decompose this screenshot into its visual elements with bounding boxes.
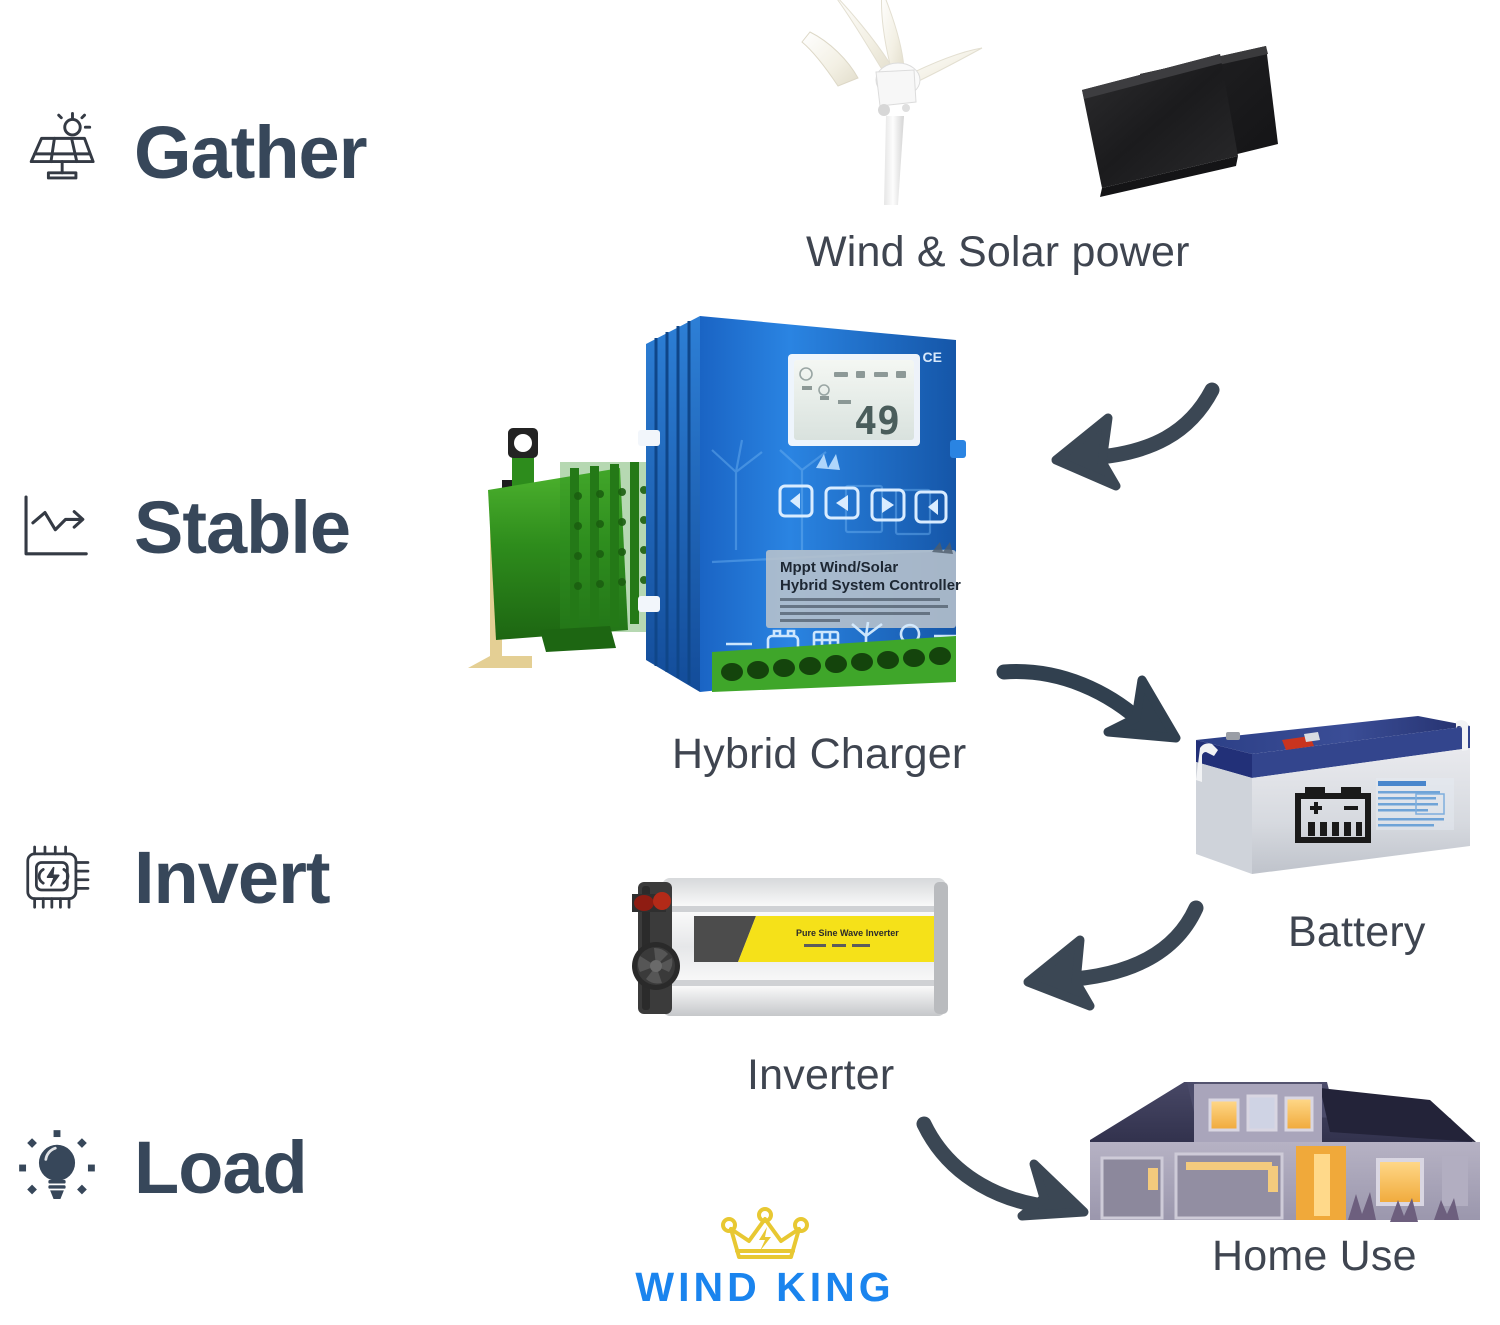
caption-inverter: Inverter (747, 1051, 894, 1100)
ce-mark-label: CE (923, 349, 942, 365)
inverter-image: Pure Sine Wave Inverter (628, 868, 958, 1033)
home-image (1090, 1082, 1480, 1232)
brand-logo: WIND KING (620, 1205, 910, 1325)
solar-panel-image (1060, 40, 1280, 200)
arrow-battery-to-inverter (1000, 898, 1215, 1013)
step-label: Stable (134, 491, 350, 565)
caption-wind-solar: Wind & Solar power (806, 228, 1190, 277)
brand-name: WIND KING (635, 1267, 894, 1308)
diagram-canvas: Gather Stable Invert (0, 0, 1500, 1325)
caption-home-use: Home Use (1212, 1232, 1417, 1281)
step-stable: Stable (14, 485, 350, 571)
step-label: Gather (134, 116, 367, 190)
solar-panel-icon (14, 110, 100, 196)
caption-battery: Battery (1288, 908, 1426, 957)
step-invert: Invert (14, 835, 330, 921)
line-chart-arrow-icon (14, 485, 100, 571)
step-gather: Gather (14, 110, 367, 196)
controller-label-line2: Hybrid System Controller (780, 577, 961, 594)
wind-turbine-image (780, 0, 1010, 205)
light-bulb-icon (14, 1125, 100, 1211)
arrow-source-to-charger (1030, 378, 1225, 493)
caption-hybrid-charger: Hybrid Charger (672, 730, 966, 779)
crown-lightning-icon (719, 1205, 811, 1265)
arrow-charger-to-battery (990, 640, 1215, 765)
chip-lightning-icon (14, 835, 100, 921)
hybrid-charger-image: 49 CE Mppt Wind/Solar Hybrid System Cont… (450, 300, 970, 700)
controller-label-line1: Mppt Wind/Solar (780, 559, 898, 576)
step-label: Load (134, 1131, 307, 1205)
controller-display-value: 49 (854, 399, 900, 443)
step-label: Invert (134, 841, 330, 915)
inverter-device-label: Pure Sine Wave Inverter (796, 928, 899, 938)
step-load: Load (14, 1125, 307, 1211)
arrow-inverter-to-home (908, 1108, 1148, 1223)
battery-image (1178, 700, 1478, 890)
